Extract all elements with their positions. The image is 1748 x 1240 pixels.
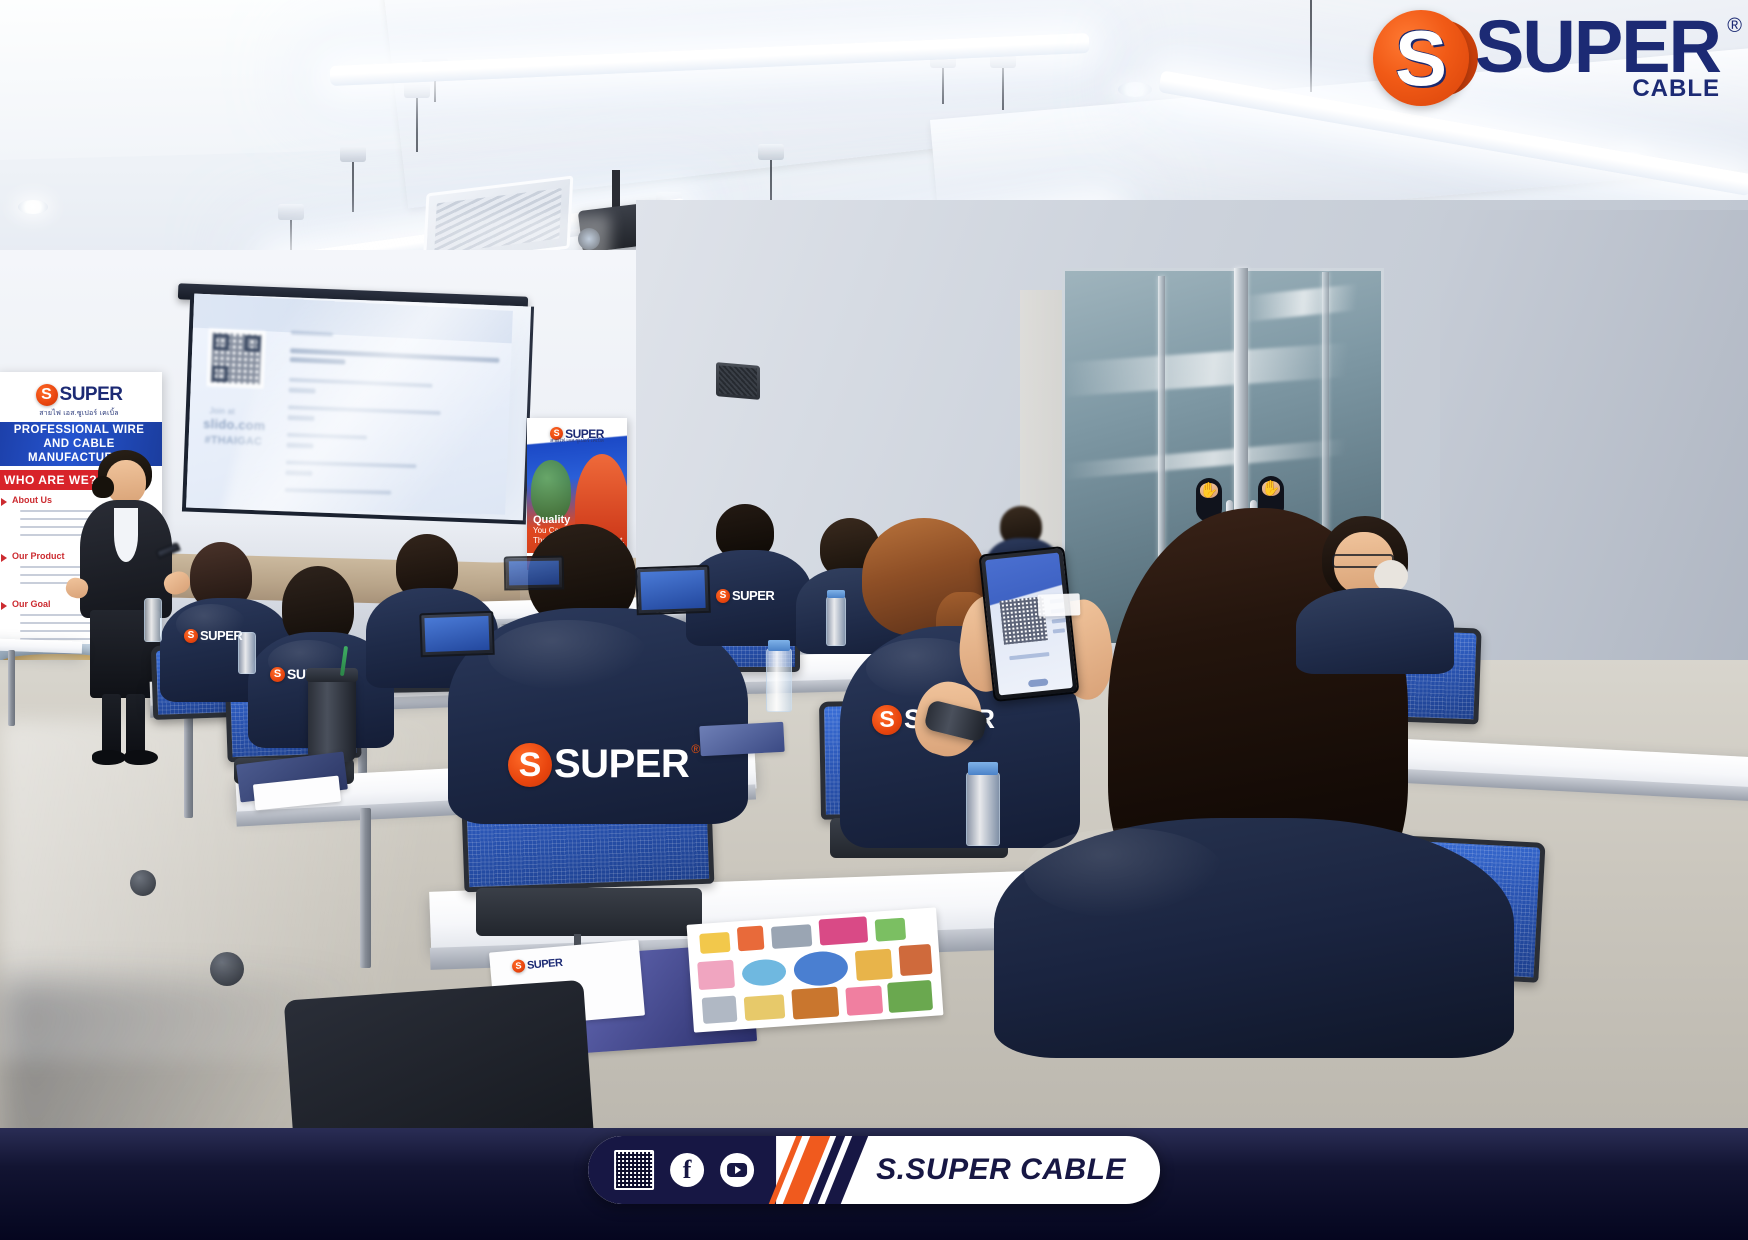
- footer-qr-code[interactable]: [614, 1150, 654, 1190]
- downlight-1: [18, 200, 48, 214]
- pendant-wire-10: [1310, 0, 1312, 92]
- rollup-arrow-3: [1, 602, 7, 610]
- glasses-attendee-body: [1296, 588, 1454, 674]
- pendant-canopy-7: [758, 144, 784, 160]
- footer-pill-left: f: [588, 1136, 776, 1204]
- push-hand-icon: ✋: [1200, 483, 1219, 498]
- table-mid-left-leg-1: [184, 706, 193, 818]
- person-attendee-glasses: [1304, 516, 1444, 666]
- presenter-leg-left: [102, 694, 121, 756]
- laptop-1: [635, 565, 711, 616]
- water-bottle-2-cap: [827, 590, 845, 598]
- attendee-4-logo-disc: S: [508, 743, 552, 787]
- footer-brand-pill: f S.SUPER CABLE: [588, 1136, 1160, 1204]
- laptop-3: [504, 555, 565, 590]
- rollup2-tree-art: [531, 460, 571, 520]
- attendee-4-logo-word: SUPER: [554, 742, 689, 787]
- folder-2: [699, 722, 784, 756]
- sticker-sheet: [687, 907, 944, 1032]
- footer-brand-title: S.SUPER CABLE: [868, 1153, 1160, 1187]
- brand-logo-wordmark: SUPER ®: [1475, 13, 1720, 81]
- downlight-2: [1118, 82, 1152, 97]
- attendee-1-uniform-logo: S SUPER: [184, 628, 242, 643]
- attendee-1-logo-word: SUPER: [200, 628, 242, 643]
- photographer-logo-disc: S: [872, 705, 902, 735]
- rollup-section-label-2: Our Product: [12, 551, 65, 561]
- water-bottle-1: [766, 648, 792, 712]
- glass-reflection-2: [1065, 435, 1395, 480]
- rollup2-thai-tagline: สายไฟ เอส.ซูเปอร์ เคเบิ้ล: [527, 437, 627, 445]
- rollup-section-label-1: About Us: [12, 495, 52, 505]
- facebook-icon[interactable]: f: [670, 1153, 704, 1187]
- attendee-4-logo-s: S: [519, 748, 542, 782]
- paper-2: [1038, 593, 1081, 616]
- attendee-5-uniform-logo: S SUPER: [716, 588, 774, 603]
- projection-screen: Join at slido.com #THAIGAC: [182, 293, 534, 524]
- pendant-canopy-2: [340, 146, 366, 162]
- water-bottle-3: [966, 772, 1000, 846]
- attendee-5-logo-word: SUPER: [732, 588, 774, 603]
- rollup-logo: S SUPER: [0, 384, 162, 406]
- chair-4-seat: [476, 888, 702, 936]
- right-wall-far: [1440, 210, 1748, 730]
- water-bottle-2: [826, 596, 846, 646]
- presenter-side-table-leg: [8, 650, 15, 726]
- pendant-canopy-3: [404, 82, 430, 98]
- presenter-leg-right: [126, 694, 145, 756]
- phone-ui-bar-5: [1009, 652, 1049, 660]
- presenter-shoe-right: [124, 750, 158, 765]
- water-bottle-3-cap: [968, 762, 998, 775]
- brand-logo-s: S: [1395, 19, 1447, 97]
- travel-tumbler-lid: [306, 668, 358, 682]
- rollup-headline-1: PROFESSIONAL WIRE: [14, 423, 145, 437]
- photograph: ✋ ผลัก ✋ ผลัก Join at slido.com #THAIGAC: [0, 0, 1748, 1175]
- brand-logo-disc: S: [1373, 10, 1469, 106]
- glass-reflection-1: [1064, 340, 1396, 397]
- screenshot-root: ✋ ผลัก ✋ ผลัก Join at slido.com #THAIGAC: [0, 0, 1748, 1240]
- brand-logo-word-text: SUPER: [1475, 5, 1720, 88]
- rollup-logo-s: S: [41, 387, 52, 403]
- push-hand-icon-2: ✋: [1262, 481, 1281, 496]
- presenter-top-vee: [114, 508, 138, 562]
- travel-tumbler: [308, 676, 356, 762]
- youtube-icon[interactable]: [720, 1153, 754, 1187]
- glass-reflection-3: [1244, 282, 1376, 321]
- presenter-shoe-left: [92, 750, 126, 765]
- table-caster-1: [130, 870, 156, 896]
- facebook-glyph: f: [683, 1157, 692, 1183]
- water-bottle-1-cap: [768, 640, 790, 651]
- wall-speaker: [716, 362, 760, 400]
- footer-slash-decoration: [776, 1136, 868, 1204]
- rollup-thai-tagline: สายไฟ เอส.ซูเปอร์ เคเบิ้ล: [0, 408, 162, 419]
- presenter-hair-bun: [92, 476, 114, 498]
- rollup-arrow-1: [1, 498, 7, 506]
- rollup-logo-word: SUPER: [60, 384, 123, 406]
- laptop-2: [419, 611, 494, 658]
- rollup-arrow-2: [1, 554, 7, 562]
- brand-logo-registered: ®: [1727, 17, 1740, 35]
- attendee-4-logo-reg: ®: [691, 742, 700, 756]
- slide-join-label: Join at: [209, 406, 235, 416]
- brochure-logo-word: SUPER: [527, 956, 563, 971]
- table-front-left-leg: [360, 808, 371, 968]
- rollup-section-label-3: Our Goal: [12, 599, 51, 609]
- phone-home-indicator: [1028, 678, 1049, 687]
- brand-logo-header: S SUPER ® CABLE: [1373, 10, 1720, 106]
- water-bottle-5: [238, 632, 256, 674]
- water-bottle-4: [144, 598, 162, 642]
- rollup-logo-disc: S: [36, 384, 58, 406]
- attendee-4-uniform-logo: S SUPER ®: [508, 742, 700, 787]
